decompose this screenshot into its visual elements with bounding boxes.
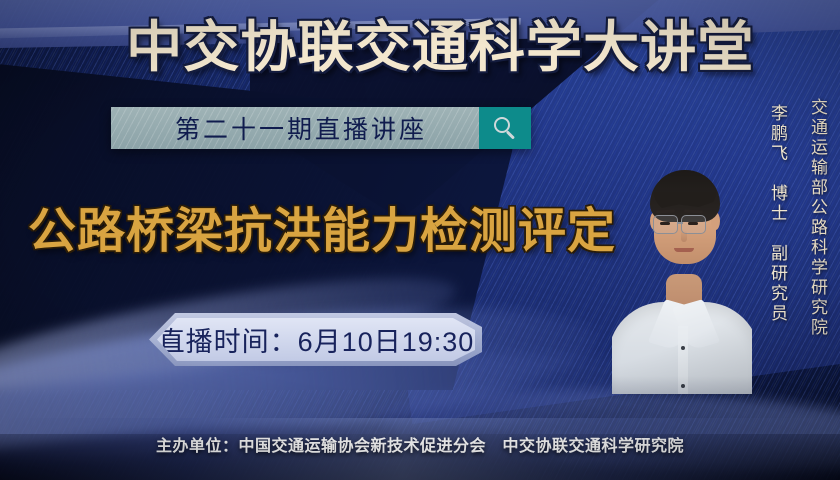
live-lecture-poster: 中交协联交通科学大讲堂 第二十一期直播讲座 公路桥梁抗洪能力检测评定 直播时间：… [0, 0, 840, 480]
schedule-text: 直播时间：6月10日19:30 [158, 320, 475, 359]
footer-organizers: 主办单位：中国交通运输协会新技术促进分会 中交协联交通科学研究院 [0, 432, 840, 456]
schedule-banner-inner: 直播时间：6月10日19:30 [157, 318, 475, 361]
speaker-portrait [612, 126, 752, 394]
portrait-mouth [674, 248, 694, 252]
portrait-nose [681, 230, 687, 242]
glasses-icon-bridge [678, 222, 683, 224]
episode-label: 第二十一期直播讲座 [111, 107, 479, 149]
portrait-eye-right [688, 222, 698, 225]
episode-banner: 第二十一期直播讲座 [111, 107, 531, 149]
portrait-button-top [681, 346, 685, 350]
portrait-eye-left [660, 222, 670, 225]
search-icon-box[interactable] [479, 107, 531, 149]
poster-title: 中交协联交通科学大讲堂 [126, 18, 728, 76]
speaker-organization: 交通运输部公路科学研究院 [805, 98, 830, 338]
portrait-shadow [612, 376, 752, 394]
lecture-headline: 公路桥梁抗洪能力检测评定 [28, 206, 668, 258]
search-icon [494, 117, 516, 139]
speaker-name-title: 李鹏飞 博士 副研究员 [765, 104, 790, 324]
